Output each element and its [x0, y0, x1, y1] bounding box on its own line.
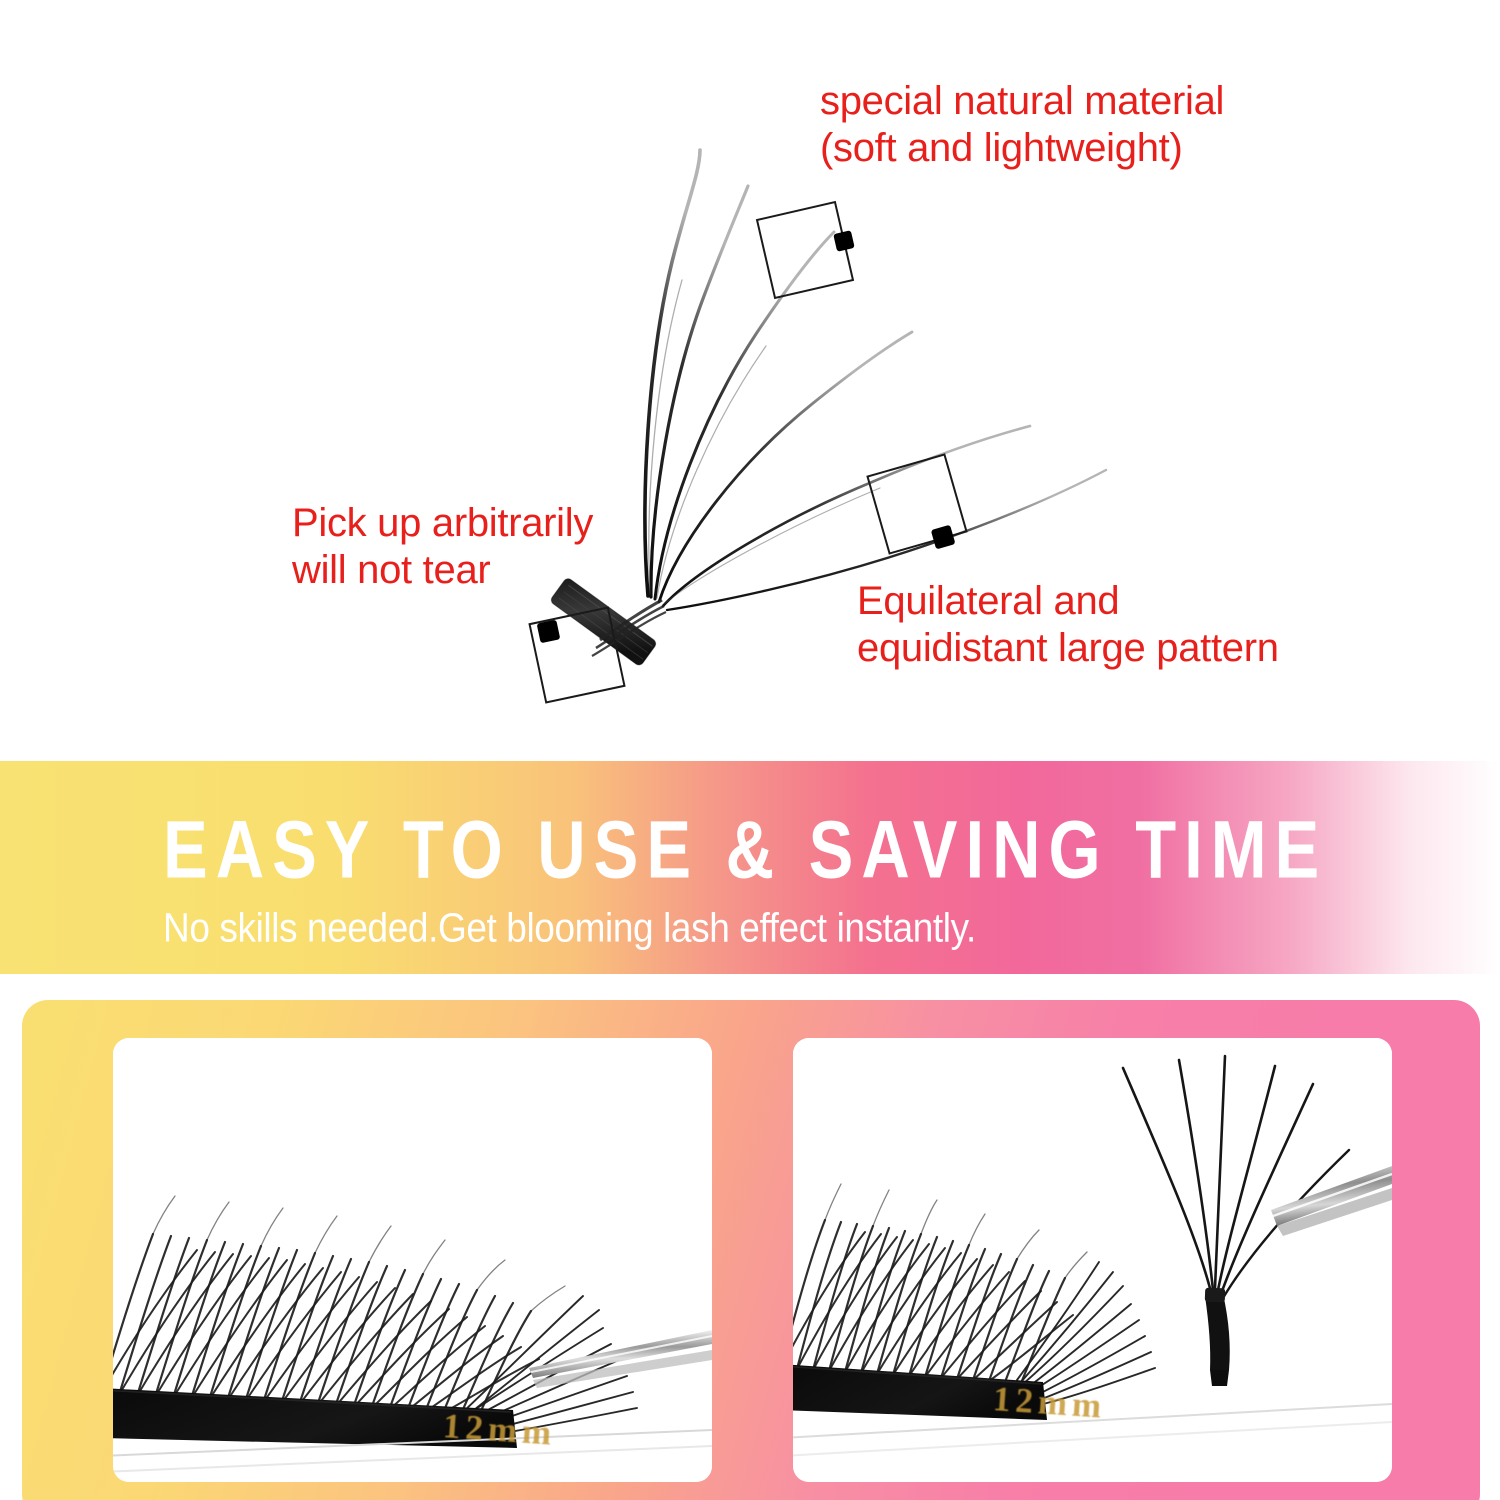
photo-panel-left[interactable]: 12mm: [113, 1038, 712, 1482]
banner-title: EASY TO USE & SAVING TIME: [163, 803, 1327, 897]
marker-top-icon: [757, 200, 862, 298]
callout-equilateral-pattern: Equilateral and equidistant large patter…: [857, 578, 1279, 672]
callout-special-natural-material: special natural material (soft and light…: [820, 78, 1224, 172]
banner-subtitle: No skills needed.Get blooming lash effec…: [163, 905, 976, 951]
headline-banner: EASY TO USE & SAVING TIME No skills need…: [0, 761, 1500, 974]
callout-pick-up-arbitrarily: Pick up arbitrarily will not tear: [292, 500, 593, 594]
photo-gallery-card: 12mm: [22, 1000, 1480, 1500]
marker-middle-icon: [868, 455, 969, 563]
lash-tray-photo-left: [113, 1038, 712, 1482]
lash-strands: [645, 150, 1106, 610]
lash-strand-highlights: [649, 280, 880, 604]
marker-base-icon: [530, 608, 625, 703]
product-feature-page: special natural material (soft and light…: [0, 0, 1500, 1500]
lash-diagram-section: special natural material (soft and light…: [0, 0, 1500, 760]
size-caption-right: 12mm: [992, 1379, 1108, 1427]
photo-panel-right[interactable]: 12mm: [793, 1038, 1392, 1482]
size-caption-left: 12mm: [442, 1406, 558, 1454]
